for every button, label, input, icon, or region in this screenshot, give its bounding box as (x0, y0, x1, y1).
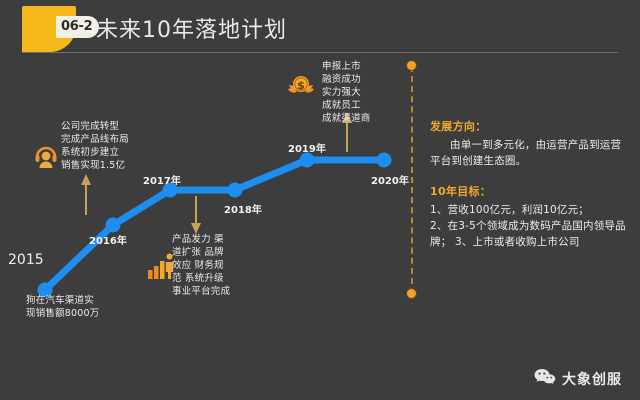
divider-dot-top (406, 60, 417, 71)
summary-panel: 发展方向： 由单一到多元化，由运营产品到运营平台到创建生态圈。 10年目标： 1… (430, 118, 630, 250)
vertical-dashed-divider (406, 60, 418, 300)
milestone-note-2015: 狗在汽车渠道实 现销售额8000万 (26, 294, 99, 320)
goals-heading: 10年目标： (430, 183, 630, 199)
divider-dot-bottom (406, 288, 417, 299)
wechat-icon (534, 368, 556, 390)
timeline-year-label-2015: 2015 (8, 252, 44, 268)
timeline-node-2018[interactable] (228, 183, 243, 198)
timeline-year-label-2016: 2016年 (89, 232, 127, 247)
timeline-year-label-2019: 2019年 (288, 140, 326, 155)
divider-dashed-line (411, 66, 413, 294)
callout-arrow-down-2017 (191, 196, 201, 234)
footer-branding: 大象创服 (534, 368, 622, 390)
slide-canvas: 06-2 未来10年落地计划 (0, 0, 640, 400)
timeline-node-2016[interactable] (106, 218, 121, 233)
direction-heading: 发展方向： (430, 118, 630, 134)
direction-body: 由单一到多元化，由运营产品到运营平台到创建生态圈。 (430, 137, 630, 169)
milestone-note-2016: 公司完成转型 完成产品线布局 系统初步建立 销售实现1.5亿 (61, 120, 129, 172)
timeline-year-label-2018: 2018年 (224, 201, 262, 216)
milestone-note-2017: 产品发力 渠 道扩张 品牌 效应 财务规 范 系统升级 事业平台完成 (172, 233, 230, 298)
callout-arrow-up-2016 (81, 174, 91, 215)
goals-body: 1、营收100亿元，利润10亿元； 2、在3-5个领域成为数码产品国内领导品牌；… (430, 202, 630, 250)
footer-logo-text: 大象创服 (562, 369, 622, 389)
milestone-note-2019: 申报上市 融资成功 实力强大 成就员工 成就渠道商 (322, 60, 371, 125)
timeline-chart: 2015 2016年 2017年 2018年 2019年 2020年 狗在汽车渠… (0, 0, 400, 400)
timeline-year-label-2017: 2017年 (143, 172, 181, 187)
timeline-node-2020[interactable] (377, 153, 392, 168)
panel-spacer (430, 169, 630, 183)
timeline-year-label-2020: 2020年 (371, 172, 409, 187)
svg-text:$: $ (297, 79, 305, 92)
